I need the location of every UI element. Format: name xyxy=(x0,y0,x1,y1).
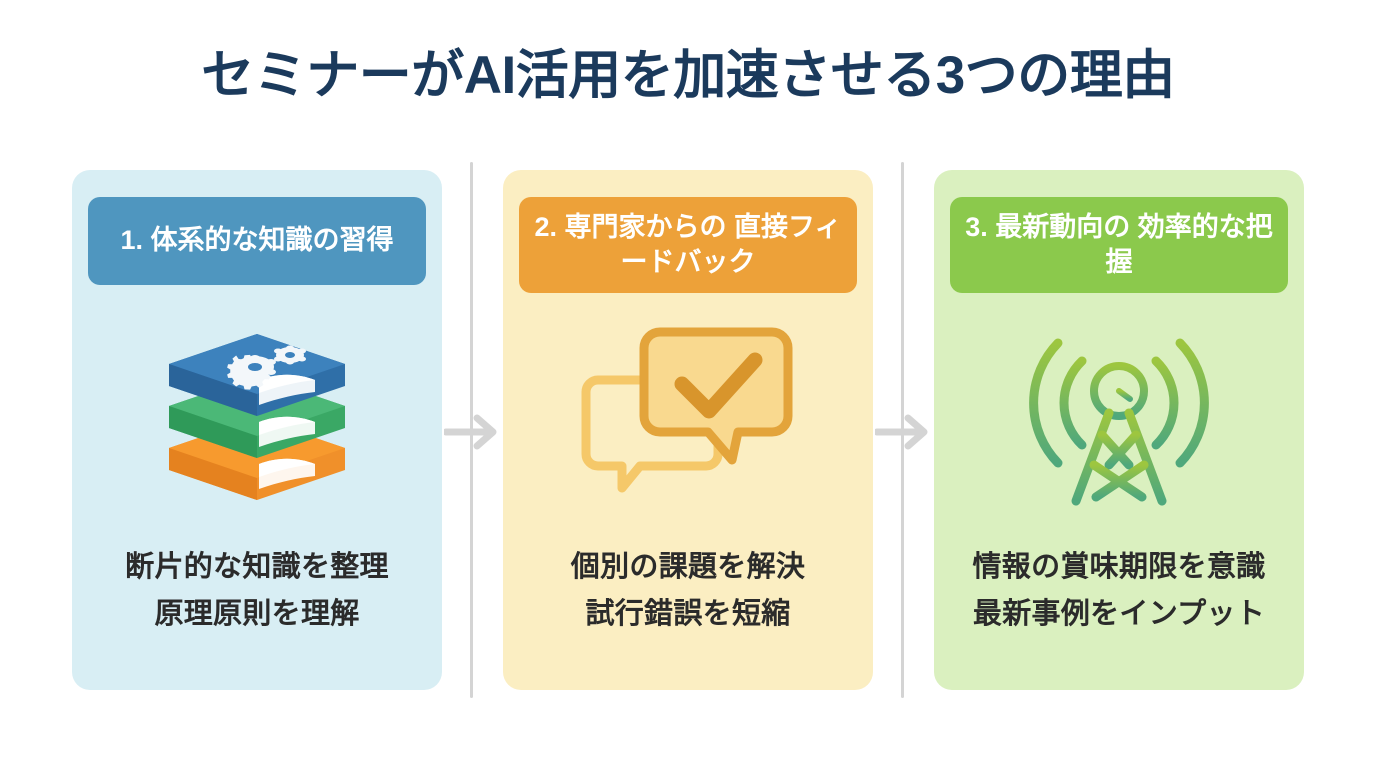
card-2-body-line-2: 試行錯誤を短縮 xyxy=(503,591,873,638)
card-1-badge: 1. 体系的な知識の習得 xyxy=(88,197,426,285)
card-1-body: 断片的な知識を整理 原理原則を理解 xyxy=(72,544,442,638)
stacked-books-gears-icon xyxy=(147,314,367,509)
card-1-badge-line-1: 1. 体系的な知識の習得 xyxy=(120,225,393,255)
card-3-icon-area xyxy=(934,287,1304,544)
card-3-badge-line-1: 3. 最新動向の xyxy=(965,212,1130,242)
card-2-body: 個別の課題を解決 試行錯誤を短縮 xyxy=(503,544,873,638)
card-2-icon-area xyxy=(503,287,873,544)
card-2-badge: 2. 専門家からの 直接フィードバック xyxy=(519,197,857,293)
card-1-body-line-2: 原理原則を理解 xyxy=(72,591,442,638)
infographic-root: セミナーがAI活用を加速させる3つの理由 1. 体系的な知識の習得 xyxy=(0,0,1376,768)
card-latest-trends: 3. 最新動向の 効率的な把握 xyxy=(934,170,1304,690)
card-systematic-knowledge: 1. 体系的な知識の習得 xyxy=(72,170,442,690)
page-title: セミナーがAI活用を加速させる3つの理由 xyxy=(0,46,1376,107)
arrow-card2-to-card3 xyxy=(875,412,937,452)
speech-bubbles-check-icon xyxy=(578,318,798,513)
card-1-body-line-1: 断片的な知識を整理 xyxy=(72,544,442,591)
card-3-badge-line-2: 効率的な把握 xyxy=(1106,212,1273,277)
connector-1 xyxy=(470,170,472,690)
card-2-body-line-1: 個別の課題を解決 xyxy=(503,544,873,591)
card-3-badge: 3. 最新動向の 効率的な把握 xyxy=(950,197,1288,293)
card-3-body-line-2: 最新事例をインプット xyxy=(934,591,1304,638)
card-3-body-line-1: 情報の賞味期限を意識 xyxy=(934,544,1304,591)
cards-row: 1. 体系的な知識の習得 xyxy=(72,170,1304,690)
broadcast-tower-clock-icon xyxy=(1014,313,1224,518)
connector-2 xyxy=(901,170,903,690)
arrow-card1-to-card2 xyxy=(444,412,506,452)
card-3-body: 情報の賞味期限を意識 最新事例をインプット xyxy=(934,544,1304,638)
card-2-badge-line-1: 2. 専門家からの xyxy=(534,212,726,242)
card-1-icon-area xyxy=(72,279,442,545)
card-expert-feedback: 2. 専門家からの 直接フィードバック 個別の課題を解決 xyxy=(503,170,873,690)
